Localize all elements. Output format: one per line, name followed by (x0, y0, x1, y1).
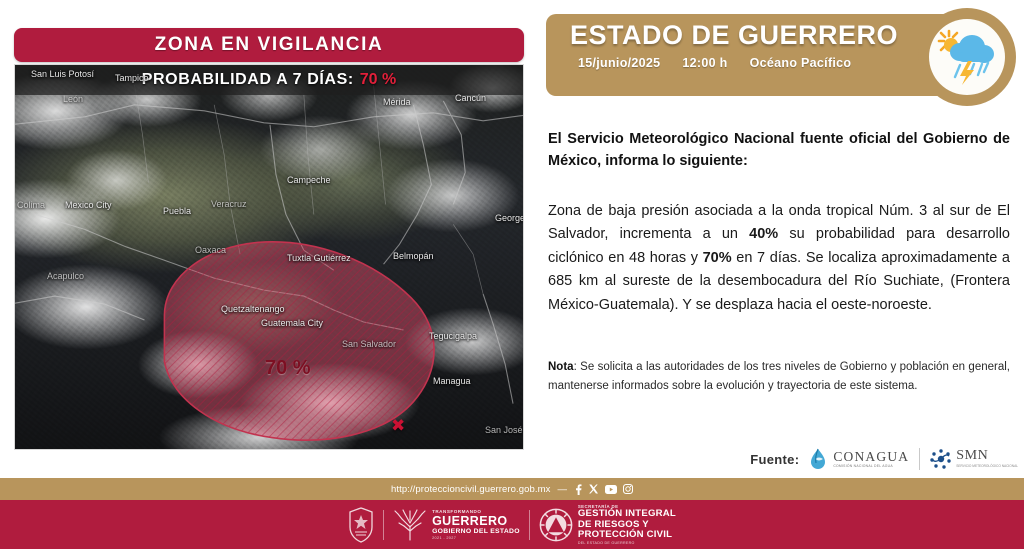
probability-48h: 40% (749, 226, 778, 242)
probability-label: PROBABILIDAD A 7 DÍAS: (142, 71, 354, 89)
smn-emblem-icon (930, 448, 952, 470)
satellite-map[interactable]: PROBABILIDAD A 7 DÍAS: 70 % San Luis Pot… (14, 64, 524, 450)
proteccion-line5: DEL ESTADO DE GUERRERO (578, 541, 676, 545)
watch-zone-polygon (15, 65, 523, 449)
probability-bar: PROBABILIDAD A 7 DÍAS: 70 % (15, 65, 523, 95)
proteccion-line4: PROTECCIÓN CIVIL (578, 530, 676, 541)
guerrero-line4: 2021 - 2027 (432, 536, 520, 540)
facebook-icon[interactable] (574, 484, 583, 495)
guerrero-coat-of-arms (348, 507, 374, 543)
storm-center-x-icon: ✖ (391, 417, 405, 434)
url-band: http://proteccioncivil.guerrero.gob.mx — (0, 478, 1024, 500)
civil-protection-icon (539, 508, 573, 542)
x-twitter-icon[interactable] (589, 484, 599, 494)
probability-7d: 70% (703, 250, 732, 266)
footer-divider-2 (529, 510, 530, 540)
note-text: : Se solicita a las autoridades de los t… (548, 361, 1010, 392)
website-url[interactable]: http://proteccioncivil.guerrero.gob.mx (391, 484, 551, 495)
bulletin-panel: ESTADO DE GUERRERO 15/junio/2025 12:00 h… (540, 0, 1024, 478)
infographic-canvas: ZONA EN VIGILANCIA (0, 0, 1024, 549)
probability-value: 70 % (360, 71, 396, 89)
bulletin-basin: Océano Pacífico (750, 56, 852, 70)
conagua-name: CONAGUA (833, 450, 909, 464)
page-title: ESTADO DE GUERRERO (570, 20, 898, 51)
source-divider (919, 448, 920, 470)
thunderstorm-icon (929, 19, 1005, 95)
smn-logo: SMN SERVICIO METEOROLÓGICO NACIONAL (930, 448, 1018, 470)
social-links (574, 484, 633, 495)
watch-zone-label: ZONA EN VIGILANCIA (155, 34, 384, 56)
footer-bar: TRANSFORMANDO GUERRERO GOBIERNO DEL ESTA… (0, 500, 1024, 549)
tree-emblem-icon (393, 508, 427, 542)
source-label: Fuente: (750, 452, 799, 467)
note-label: Nota (548, 361, 574, 373)
youtube-icon[interactable] (605, 485, 617, 494)
conagua-logo: CONAGUA COMISIÓN NACIONAL DEL AGUA (809, 448, 909, 470)
satellite-imagery: PROBABILIDAD A 7 DÍAS: 70 % San Luis Pot… (15, 65, 523, 449)
note-paragraph: Nota: Se solicita a las autoridades de l… (548, 358, 1010, 395)
smn-name: SMN (956, 449, 1018, 463)
map-panel: ZONA EN VIGILANCIA (0, 0, 540, 478)
source-row: Fuente: CONAGUA COMISIÓN NACIONAL DEL AG… (548, 444, 1018, 474)
footer-divider-1 (383, 510, 384, 540)
coat-of-arms-icon (348, 507, 374, 543)
watch-zone-banner: ZONA EN VIGILANCIA (14, 28, 524, 62)
smn-subtitle: SERVICIO METEOROLÓGICO NACIONAL (956, 465, 1018, 468)
weather-badge (918, 8, 1016, 106)
proteccion-civil-logo: SECRETARÍA DE GESTIÓN INTEGRAL DE RIESGO… (539, 504, 676, 546)
bulletin-time: 12:00 h (682, 56, 727, 70)
bulletin-subheader: 15/junio/2025 12:00 h Océano Pacífico (578, 56, 851, 70)
guerrero-line2: GUERRERO (432, 514, 520, 528)
conagua-emblem-icon (809, 448, 829, 470)
guerrero-line3: GOBIERNO DEL ESTADO (432, 528, 520, 536)
bulletin-date: 15/junio/2025 (578, 56, 660, 70)
conagua-subtitle: COMISIÓN NACIONAL DEL AGUA (833, 465, 909, 468)
lead-paragraph: El Servicio Meteorológico Nacional fuent… (548, 128, 1010, 173)
proteccion-line2: GESTIÓN INTEGRAL (578, 509, 676, 520)
zone-probability-label: 70 % (265, 357, 311, 380)
body-paragraph: Zona de baja presión asociada a la onda … (548, 200, 1010, 317)
instagram-icon[interactable] (623, 484, 633, 494)
url-dash: — (558, 484, 568, 495)
transformando-guerrero-logo: TRANSFORMANDO GUERRERO GOBIERNO DEL ESTA… (393, 508, 520, 542)
